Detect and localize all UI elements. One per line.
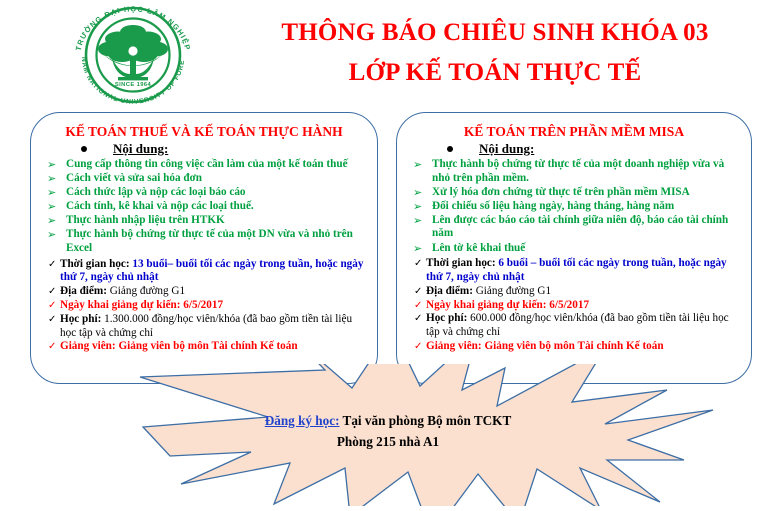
info-item: ✓Học phí: 600.000 đồng/học viên/khóa (đã… (405, 312, 743, 340)
bullet-item: ➢Thực hành bộ chứng từ thực tế của một D… (39, 228, 369, 255)
bullet-text: Cách tính, kê khai và nộp các loại thuế. (66, 200, 254, 212)
bullet-item: ➢Cách tính, kê khai và nộp các loại thuế… (39, 200, 369, 214)
arrow-bullet-icon: ➢ (47, 228, 56, 242)
bullet-item: ➢Cung cấp thông tin công việc cần làm củ… (39, 158, 369, 172)
arrow-bullet-icon: ➢ (413, 242, 422, 256)
info-value: Giảng viên bộ môn Tài chính Kế toán (118, 340, 297, 352)
info-value: Giảng viên bộ môn Tài chính Kế toán (484, 340, 663, 352)
title-line-2: LỚP KẾ TOÁN THỰC TẾ (225, 56, 765, 90)
registration-text: Đăng ký học: Tại văn phòng Bộ môn TCKT P… (178, 410, 598, 452)
check-bullet-icon: ✓ (48, 299, 56, 313)
course-right-info-list: ✓Thời gian học: 6 buổi – buổi tối các ng… (405, 257, 743, 354)
info-item: ✓Giảng viên: Giảng viên bộ môn Tài chính… (39, 340, 369, 354)
info-value: 600.000 đồng/học viên/khóa (đã bao gồm t… (426, 312, 729, 338)
info-value: Giảng đường G1 (110, 285, 185, 297)
check-bullet-icon: ✓ (48, 258, 56, 272)
check-bullet-icon: ✓ (414, 299, 422, 313)
vnuf-logo: TRƯỜNG ĐẠI HỌC LÂM NGHIỆP VIETNAM NATION… (60, 6, 210, 104)
check-bullet-icon: ✓ (48, 340, 56, 354)
info-item: ✓Thời gian học: 6 buổi – buổi tối các ng… (405, 257, 743, 285)
arrow-bullet-icon: ➢ (47, 172, 56, 186)
bullet-text: Thực hành nhập liệu trên HTKK (66, 214, 225, 226)
arrow-bullet-icon: ➢ (413, 200, 422, 214)
course-right-content-heading: Nội dung: (405, 141, 743, 157)
check-bullet-icon: ✓ (414, 257, 422, 271)
course-box-right: KẾ TOÁN TRÊN PHẦN MỀM MISA Nội dung: ➢Th… (396, 112, 752, 384)
arrow-bullet-icon: ➢ (47, 158, 56, 172)
bullet-item: ➢Thực hành bộ chứng từ thực tế của một d… (405, 158, 743, 185)
info-value: 1.300.000 đồng/học viên/khóa (đã bao gồm… (60, 313, 352, 339)
info-label: Giảng viên: (426, 340, 484, 352)
bullet-item: ➢Thực hành nhập liệu trên HTKK (39, 214, 369, 228)
bullet-item: ➢Xử lý hóa đơn chứng từ thực tế trên phầ… (405, 186, 743, 200)
course-right-bullet-list: ➢Thực hành bộ chứng từ thực tế của một d… (405, 158, 743, 255)
arrow-bullet-icon: ➢ (413, 186, 422, 200)
bullet-item: ➢Cách thức lập và nộp các loại báo cáo (39, 186, 369, 200)
arrow-bullet-icon: ➢ (47, 186, 56, 200)
poster-header: TRƯỜNG ĐẠI HỌC LÂM NGHIỆP VIETNAM NATION… (0, 0, 776, 104)
arrow-bullet-icon: ➢ (413, 214, 422, 228)
registration-line-2: Phòng 215 nhà A1 (178, 431, 598, 452)
info-label: Học phí: (60, 313, 104, 325)
info-value: 6/5/2017 (549, 299, 589, 311)
course-left-title: KẾ TOÁN THUẾ VÀ KẾ TOÁN THỰC HÀNH (39, 123, 369, 140)
course-left-info-list: ✓Thời gian học: 13 buổi– buổi tối các ng… (39, 258, 369, 355)
check-bullet-icon: ✓ (48, 285, 56, 299)
info-item: ✓Thời gian học: 13 buổi– buổi tối các ng… (39, 258, 369, 286)
bullet-text: Cung cấp thông tin công việc cần làm của… (66, 158, 348, 170)
check-bullet-icon: ✓ (48, 313, 56, 327)
info-label: Địa điểm: (426, 285, 476, 297)
info-label: Thời gian học: (426, 257, 498, 269)
bullet-text: Xử lý hóa đơn chứng từ thực tế trên phần… (432, 186, 690, 198)
bullet-item: ➢Đối chiếu số liệu hàng ngày, hàng tháng… (405, 200, 743, 214)
bullet-text: Thực hành bộ chứng từ thực tế của một DN… (66, 228, 353, 254)
info-item: ✓Ngày khai giảng dự kiến: 6/5/2017 (405, 299, 743, 313)
bullet-text: Lên tờ kê khai thuế (432, 242, 525, 254)
arrow-bullet-icon: ➢ (47, 214, 56, 228)
info-label: Thời gian học: (60, 258, 132, 270)
bullet-text: Cách thức lập và nộp các loại báo cáo (66, 186, 246, 198)
bullet-item: ➢Cách viết và sửa sai hóa đơn (39, 172, 369, 186)
bullet-text: Lên được các báo cáo tài chính giữa niên… (432, 214, 728, 240)
info-label: Ngày khai giảng dự kiến: (426, 299, 549, 311)
info-label: Địa điểm: (60, 285, 110, 297)
bullet-item: ➢Lên được các báo cáo tài chính giữa niê… (405, 214, 743, 241)
info-value: Giảng đường G1 (476, 285, 551, 297)
course-left-content-label: Nội dung: (113, 141, 168, 157)
svg-text:SINCE 1964: SINCE 1964 (115, 82, 152, 88)
info-item: ✓Địa điểm: Giảng đường G1 (405, 285, 743, 299)
course-right-title: KẾ TOÁN TRÊN PHẦN MỀM MISA (405, 123, 743, 140)
info-item: ✓Giảng viên: Giảng viên bộ môn Tài chính… (405, 340, 743, 354)
registration-location: Tại văn phòng Bộ môn TCKT (343, 413, 512, 428)
info-item: ✓Học phí: 1.300.000 đồng/học viên/khóa (… (39, 313, 369, 341)
registration-line-1: Đăng ký học: Tại văn phòng Bộ môn TCKT (178, 410, 598, 431)
course-right-content-label: Nội dung: (479, 141, 534, 157)
bullet-text: Thực hành bộ chứng từ thực tế của một do… (432, 158, 724, 184)
registration-label: Đăng ký học: (265, 413, 340, 428)
check-bullet-icon: ✓ (414, 312, 422, 326)
check-bullet-icon: ✓ (414, 285, 422, 299)
info-label: Giảng viên: (60, 340, 118, 352)
course-box-left: KẾ TOÁN THUẾ VÀ KẾ TOÁN THỰC HÀNH Nội du… (30, 112, 378, 384)
arrow-bullet-icon: ➢ (47, 200, 56, 214)
bullet-text: Cách viết và sửa sai hóa đơn (66, 172, 202, 184)
poster-title: THÔNG BÁO CHIÊU SINH KHÓA 03 LỚP KẾ TOÁN… (225, 16, 765, 90)
info-item: ✓Ngày khai giảng dự kiến: 6/5/2017 (39, 299, 369, 313)
info-item: ✓Địa điểm: Giảng đường G1 (39, 285, 369, 299)
course-left-content-heading: Nội dung: (39, 141, 369, 157)
info-value: 6/5/2017 (183, 299, 223, 311)
course-left-bullet-list: ➢Cung cấp thông tin công việc cần làm củ… (39, 158, 369, 256)
info-label: Ngày khai giảng dự kiến: (60, 299, 183, 311)
check-bullet-icon: ✓ (414, 340, 422, 354)
dot-bullet-icon (447, 146, 453, 152)
arrow-bullet-icon: ➢ (413, 158, 422, 172)
title-line-1: THÔNG BÁO CHIÊU SINH KHÓA 03 (225, 16, 765, 50)
bullet-text: Đối chiếu số liệu hàng ngày, hàng tháng,… (432, 200, 674, 212)
announcement-poster: TRƯỜNG ĐẠI HỌC LÂM NGHIỆP VIETNAM NATION… (0, 0, 776, 506)
bullet-item: ➢Lên tờ kê khai thuế (405, 242, 743, 256)
info-label: Học phí: (426, 312, 470, 324)
dot-bullet-icon (81, 146, 87, 152)
